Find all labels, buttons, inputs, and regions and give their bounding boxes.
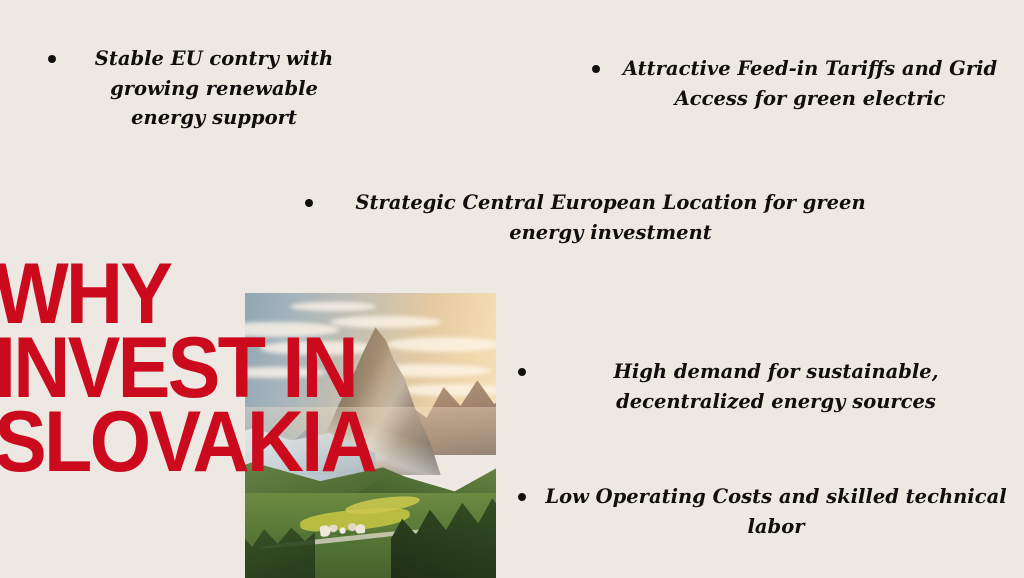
bullet-dot-icon	[518, 368, 526, 376]
bullet-item-2: Attractive Feed-in Tariffs and Grid Acce…	[592, 54, 1012, 113]
bullet-item-1: Stable EU contry with growing renewable …	[48, 44, 378, 133]
bullet-text-2: Attractive Feed-in Tariffs and Grid Acce…	[614, 54, 1006, 113]
cloud	[386, 337, 496, 352]
bullet-item-5: Low Operating Costs and skilled technica…	[518, 482, 1018, 541]
slide-title: WHY INVEST IN SLOVAKIA	[0, 258, 375, 480]
bullet-dot-icon	[305, 199, 313, 207]
bullet-dot-icon	[48, 55, 56, 63]
bullet-dot-icon	[518, 493, 526, 501]
bullet-dot-icon	[592, 65, 600, 73]
slide-canvas: WHY INVEST IN SLOVAKIA Stable EU contry …	[0, 0, 1024, 578]
bullet-text-4: High demand for sustainable, decentraliz…	[540, 357, 1012, 416]
bullet-text-1: Stable EU contry with growing renewable …	[78, 44, 350, 133]
bullet-item-3: Strategic Central European Location for …	[305, 188, 880, 247]
title-line-3: SLOVAKIA	[0, 406, 375, 480]
bullet-item-4: High demand for sustainable, decentraliz…	[518, 357, 1018, 416]
bullet-text-3: Strategic Central European Location for …	[341, 188, 880, 247]
bullet-text-5: Low Operating Costs and skilled technica…	[540, 482, 1012, 541]
